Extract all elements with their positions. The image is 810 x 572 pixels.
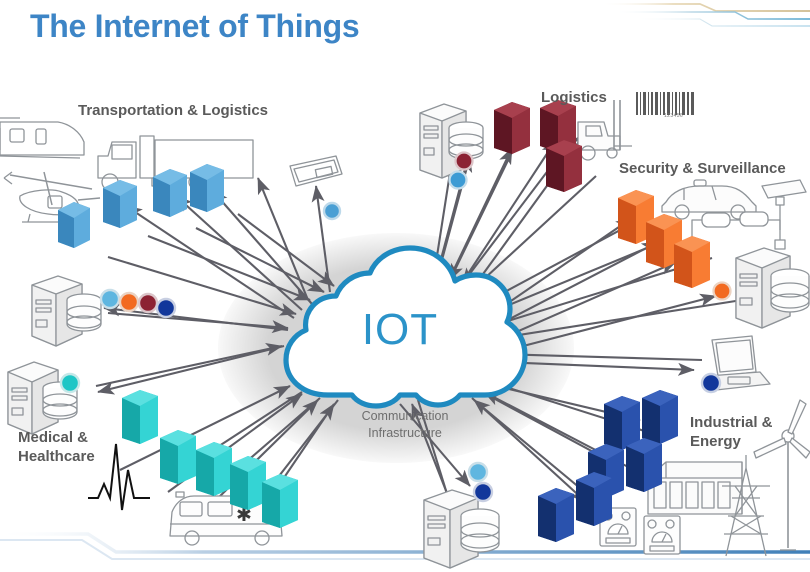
page-title: The Internet of Things [30, 8, 359, 45]
transportation-dot [324, 203, 340, 219]
logistics-dot-blue [450, 172, 467, 189]
section-label-logistics: Logistics [541, 88, 607, 107]
cctv-camera-icon [762, 180, 806, 230]
bottom-dot-lightblue [469, 463, 487, 481]
bottom-dot-darkblue [474, 483, 492, 501]
transportation-boxes [58, 164, 340, 248]
section-label-transportation: Transportation & Logistics [78, 101, 268, 120]
section-label-medical: Medical & Healthcare [18, 428, 95, 466]
iot-diagram-canvas: ✱ [0, 0, 810, 572]
security-database-icon [771, 269, 809, 312]
tablet-scanner-icon [290, 156, 342, 186]
security-dot [714, 283, 731, 300]
barcode-icon [634, 92, 696, 115]
ecg-waveform-icon [88, 444, 150, 510]
laptop-dot [702, 374, 720, 392]
medical-database-upper-icon [67, 294, 101, 331]
cloud-label: IOT [330, 305, 470, 355]
bottom-decoration-band [0, 534, 810, 559]
server-rack-icon [648, 462, 742, 514]
top-right-decoration [600, 4, 810, 26]
communication-infrastructure-caption: Communication Infrastructure [315, 408, 495, 442]
bottom-server-group [424, 490, 499, 568]
train-icon [0, 118, 84, 158]
gauge-meter-icon-2 [644, 516, 680, 554]
forklift-icon [578, 100, 632, 160]
barcode-number: 123456 [664, 113, 683, 119]
section-label-security: Security & Surveillance [619, 159, 786, 178]
bottom-database-icon [461, 509, 499, 552]
section-label-industrial: Industrial & Energy [690, 413, 773, 451]
logistics-dot-red [456, 153, 473, 170]
